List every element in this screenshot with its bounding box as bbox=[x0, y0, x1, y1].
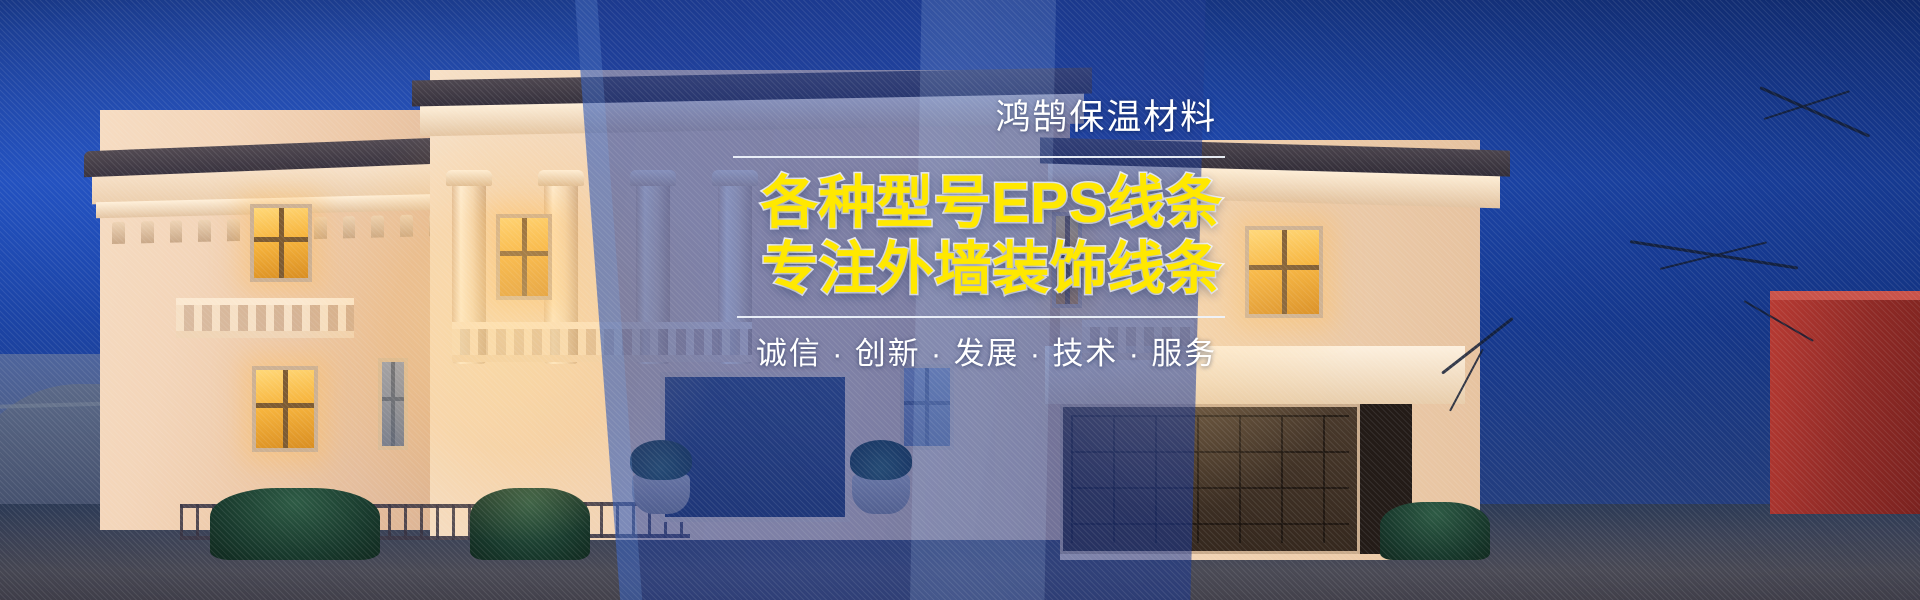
planter-shrub bbox=[630, 440, 692, 480]
planter-pot bbox=[632, 474, 690, 514]
balcony-balustrade bbox=[176, 298, 354, 338]
dark-window bbox=[900, 364, 954, 450]
headline-line-2: 专注外墙装饰线条 bbox=[575, 238, 1225, 300]
garage-door bbox=[1060, 404, 1360, 554]
column-capital bbox=[446, 170, 492, 186]
foreground-hedge bbox=[210, 488, 380, 560]
lit-window bbox=[252, 366, 318, 452]
dark-window bbox=[378, 358, 408, 450]
foreground-hedge bbox=[470, 488, 590, 560]
foreground-hedge bbox=[1380, 502, 1490, 560]
planter-shrub bbox=[850, 440, 912, 480]
lit-window bbox=[496, 214, 552, 300]
hero-banner: 鸿鹄保温材料 各种型号EPS线条 专注外墙装饰线条 诚信 · 创新 · 发展 ·… bbox=[0, 0, 1920, 600]
tagline: 诚信 · 创新 · 发展 · 技术 · 服务 bbox=[575, 334, 1225, 374]
red-wall-coping bbox=[1770, 291, 1920, 300]
divider-lower bbox=[737, 316, 1225, 318]
banner-copy-block: 鸿鹄保温材料 各种型号EPS线条 专注外墙装饰线条 诚信 · 创新 · 发展 ·… bbox=[575, 96, 1225, 374]
divider-upper bbox=[733, 156, 1225, 158]
lit-window bbox=[1245, 226, 1323, 318]
planter-pot bbox=[852, 474, 910, 514]
headline-line-1: 各种型号EPS线条 bbox=[575, 172, 1225, 234]
brand-name: 鸿鹄保温材料 bbox=[575, 96, 1225, 140]
lit-window bbox=[250, 204, 312, 282]
garage-door-panels bbox=[1071, 415, 1349, 543]
